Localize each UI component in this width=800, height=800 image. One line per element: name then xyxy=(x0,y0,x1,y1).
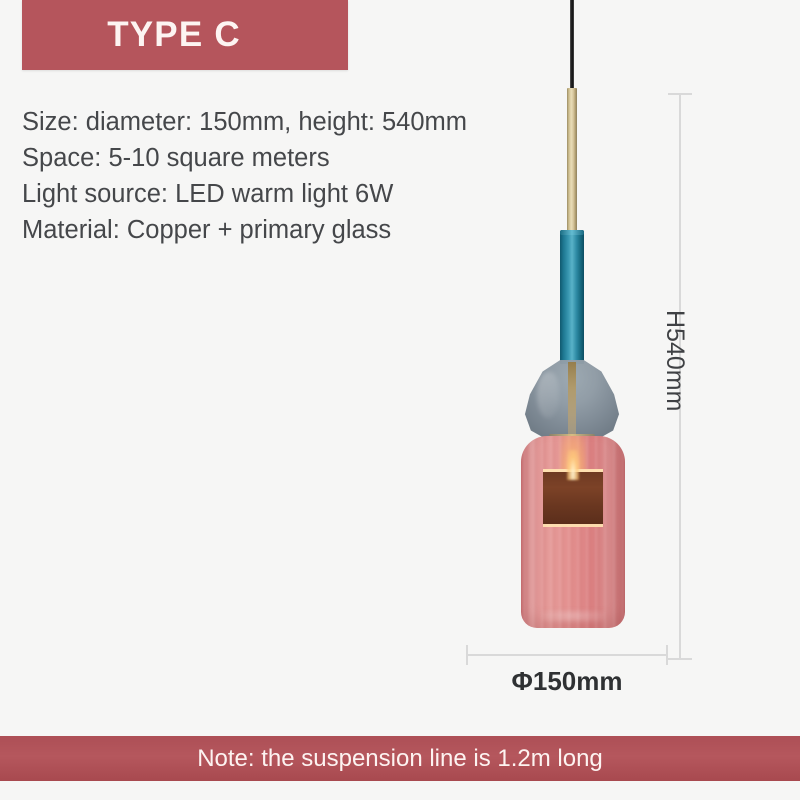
spec-line-size: Size: diameter: 150mm, height: 540mm xyxy=(22,104,582,140)
product-spec-image: TYPE C Size: diameter: 150mm, height: 54… xyxy=(0,0,800,800)
height-dimension-cap-top xyxy=(668,93,692,95)
lamp-dome-highlight xyxy=(537,372,559,418)
height-dimension-cap-bottom xyxy=(668,658,692,660)
lamp-teal-cylinder xyxy=(560,230,584,364)
diameter-dimension-label: Φ150mm xyxy=(466,666,668,697)
lamp-smoke-dome xyxy=(523,360,621,442)
type-badge-label: TYPE C xyxy=(22,15,326,55)
height-dimension-label: H540mm xyxy=(660,310,689,411)
lamp-pink-glass-shade xyxy=(521,436,625,628)
note-bar-label: Note: the suspension line is 1.2m long xyxy=(197,745,603,773)
type-badge: TYPE C xyxy=(22,0,348,70)
lamp-dome-core xyxy=(568,362,576,440)
lamp-shade-ribbing xyxy=(521,436,625,628)
lamp-led-copper-body xyxy=(543,472,603,524)
lamp-dome-shape xyxy=(523,360,621,442)
lamp-cord xyxy=(570,0,574,91)
note-bar: Note: the suspension line is 1.2m long xyxy=(0,736,800,781)
diameter-dimension-cap-left xyxy=(466,645,468,665)
spec-line-material: Material: Copper + primary glass xyxy=(22,212,582,248)
spec-line-space: Space: 5-10 square meters xyxy=(22,140,582,176)
diameter-dimension-line xyxy=(466,654,668,656)
lamp-shade-top-glow xyxy=(560,436,586,472)
lamp-shade-bottom-sheen xyxy=(542,610,604,622)
lamp-led-glow xyxy=(567,450,579,480)
diameter-dimension-cap-right xyxy=(666,645,668,665)
lamp-dome-rim xyxy=(549,434,595,440)
spec-list: Size: diameter: 150mm, height: 540mm Spa… xyxy=(22,104,582,248)
spec-line-light-source: Light source: LED warm light 6W xyxy=(22,176,582,212)
